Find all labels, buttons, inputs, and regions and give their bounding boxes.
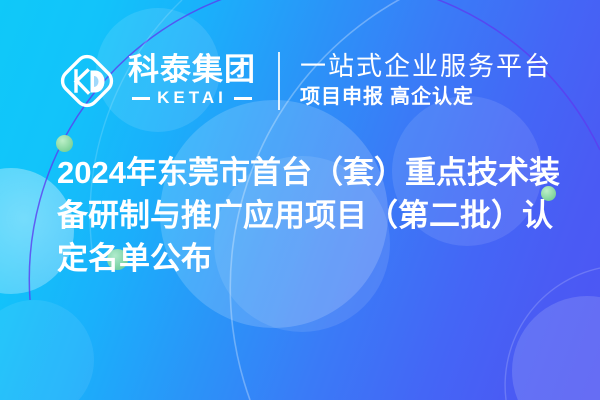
brand-name-en-row: KETAI — [132, 88, 252, 108]
wordmark-rule-left — [132, 97, 150, 100]
kd-diamond-logo-icon — [56, 50, 118, 112]
brand-name-cn: 科泰集团 — [128, 54, 256, 87]
banner-header: 科泰集团 KETAI 一站式企业服务平台 项目申报 高企认定 — [0, 40, 600, 122]
brand-name-en: KETAI — [157, 88, 227, 108]
header-divider — [278, 52, 280, 110]
wordmark-rule-right — [234, 97, 252, 100]
brand-logo: 科泰集团 KETAI — [56, 50, 256, 112]
slogan-block: 一站式企业服务平台 项目申报 高企认定 — [300, 52, 552, 111]
decorative-circle-bottom-right — [512, 296, 600, 400]
decorative-circle-bottom-left — [0, 300, 94, 400]
accent-dot-green-left — [56, 135, 73, 152]
banner-title: 2024年东莞市首台（套）重点技术装备研制与推广应用项目（第二批）认定名单公布 — [57, 152, 565, 280]
brand-wordmark: 科泰集团 KETAI — [128, 54, 256, 109]
slogan-secondary: 项目申报 高企认定 — [300, 84, 552, 110]
promo-banner: 科泰集团 KETAI 一站式企业服务平台 项目申报 高企认定 2024年东莞市首… — [0, 0, 600, 400]
slogan-primary: 一站式企业服务平台 — [300, 52, 552, 82]
